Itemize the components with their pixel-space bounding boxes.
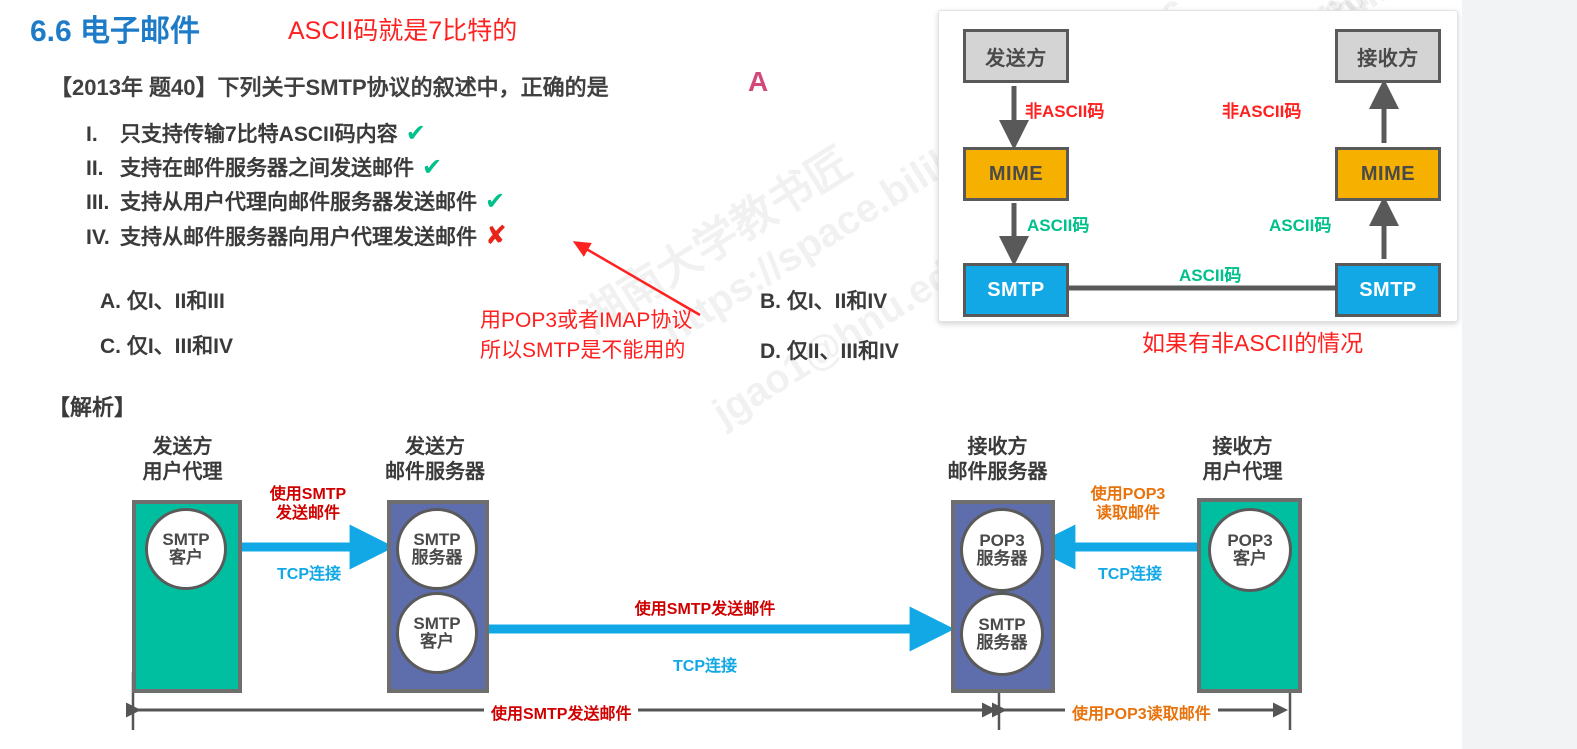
circle-smtp-server-sender: SMTP 服务器 — [396, 508, 478, 590]
link-label-line2: 读取邮件 — [1068, 504, 1188, 523]
statement-text: 支持在邮件服务器之间发送邮件 — [120, 157, 414, 180]
mime-panel-right-mime-box: MIME — [1335, 147, 1441, 201]
link-label-tcp-3: TCP连接 — [1075, 560, 1185, 584]
statement-1: I.只支持传输7比特ASCII码内容✔ — [86, 118, 426, 148]
statement-text: 只支持传输7比特ASCII码内容 — [120, 123, 398, 146]
circle-line2: 客户 — [1233, 550, 1267, 568]
pop3-annotation-line2: 所以SMTP是不能用的 — [480, 336, 692, 366]
option-d[interactable]: D. 仅II、III和IV — [760, 335, 899, 365]
host-label-receiver-ua: 接收方 用户代理 — [1175, 435, 1310, 485]
pop3-annotation-line1: 用POP3或者IMAP协议 — [480, 306, 692, 336]
circle-line1: SMTP — [978, 616, 1025, 634]
statement-text: 支持从用户代理向邮件服务器发送邮件 — [120, 191, 477, 214]
circle-line1: SMTP — [413, 531, 460, 549]
statement-number: II. — [86, 157, 120, 181]
host-label-line1: 发送方 — [365, 435, 505, 460]
circle-line2: 客户 — [420, 633, 454, 651]
link-label-tcp-1: TCP连接 — [262, 560, 356, 584]
circle-line1: SMTP — [162, 531, 209, 549]
check-icon: ✔ — [406, 120, 426, 147]
host-label-line2: 用户代理 — [1175, 460, 1310, 485]
link-label-ua-to-server: 使用SMTP 发送邮件 — [248, 485, 368, 523]
answer-marker: A — [748, 66, 768, 98]
question-text: 【2013年 题40】下列关于SMTP协议的叙述中，正确的是 — [50, 70, 609, 102]
statement-text: 支持从邮件服务器向用户代理发送邮件 — [120, 226, 477, 249]
mime-panel-middle-ascii-label: ASCII码 — [1179, 261, 1241, 286]
mime-panel-right-ascii-label: ASCII码 — [1269, 211, 1331, 236]
circle-line2: 服务器 — [977, 550, 1028, 568]
mime-panel-left-smtp-box: SMTP — [963, 263, 1069, 317]
circle-line1: POP3 — [1227, 532, 1272, 550]
mime-panel-left-mime-box: MIME — [963, 147, 1069, 201]
mime-panel-right-smtp-box: SMTP — [1335, 263, 1441, 317]
statement-4: IV.支持从邮件服务器向用户代理发送邮件✘ — [86, 220, 507, 251]
statement-number: IV. — [86, 226, 120, 250]
mime-panel-sender-box: 发送方 — [963, 29, 1069, 83]
statement-3: III.支持从用户代理向邮件服务器发送邮件✔ — [86, 186, 505, 216]
host-label-receiver-server: 接收方 邮件服务器 — [925, 435, 1070, 485]
analysis-label: 【解析】 — [48, 390, 136, 422]
link-label-receiver-ua-to-server: 使用POP3 读取邮件 — [1068, 485, 1188, 523]
statement-number: I. — [86, 123, 120, 147]
option-a[interactable]: A. 仅I、II和III — [100, 285, 225, 315]
host-label-line1: 接收方 — [925, 435, 1070, 460]
mime-panel: 发送方 MIME SMTP 接收方 MIME SMTP 非ASCII码 ASCI… — [938, 10, 1458, 322]
circle-line2: 服务器 — [977, 634, 1028, 652]
host-label-sender-server: 发送方 邮件服务器 — [365, 435, 505, 485]
mime-panel-left-nonascii-label: 非ASCII码 — [1025, 97, 1104, 122]
link-label-line1: 使用POP3 — [1068, 485, 1188, 504]
circle-line2: 客户 — [169, 549, 203, 567]
mime-panel-caption: 如果有非ASCII的情况 — [1142, 324, 1363, 358]
circle-line1: POP3 — [979, 532, 1024, 550]
circle-pop3-server-receiver: POP3 服务器 — [960, 508, 1044, 592]
statement-number: III. — [86, 191, 120, 215]
slide-canvas: https://space.bilibili.com/360996 jgao1@… — [0, 0, 1462, 749]
host-label-line2: 邮件服务器 — [925, 460, 1070, 485]
check-icon: ✔ — [485, 188, 505, 215]
page-title: 6.6 电子邮件 — [30, 6, 200, 50]
circle-line2: 服务器 — [412, 549, 463, 567]
link-label-line1: 使用SMTP — [248, 485, 368, 504]
host-label-line2: 用户代理 — [115, 460, 250, 485]
circle-smtp-client-sender-server: SMTP 客户 — [396, 592, 478, 674]
statement-2: II.支持在邮件服务器之间发送邮件✔ — [86, 152, 442, 182]
circle-line1: SMTP — [413, 615, 460, 633]
circle-smtp-server-receiver: SMTP 服务器 — [960, 592, 1044, 676]
host-label-sender-ua: 发送方 用户代理 — [115, 435, 250, 485]
mime-panel-receiver-box: 接收方 — [1335, 29, 1441, 83]
option-b[interactable]: B. 仅I、II和IV — [760, 285, 887, 315]
link-label-tcp-2: TCP连接 — [640, 652, 770, 676]
host-label-line1: 接收方 — [1175, 435, 1310, 460]
cross-icon: ✘ — [485, 220, 507, 250]
measure-label-smtp: 使用SMTP发送邮件 — [484, 700, 638, 724]
link-label-line2: 发送邮件 — [248, 504, 368, 523]
link-label-server-to-server: 使用SMTP发送邮件 — [575, 600, 835, 619]
ascii-annotation: ASCII码就是7比特的 — [288, 11, 517, 47]
measure-label-pop3: 使用POP3读取邮件 — [1065, 700, 1218, 724]
pop3-annotation: 用POP3或者IMAP协议 所以SMTP是不能用的 — [480, 306, 692, 366]
mime-panel-right-nonascii-label: 非ASCII码 — [1222, 97, 1301, 122]
host-label-line2: 邮件服务器 — [365, 460, 505, 485]
mime-panel-left-ascii-label: ASCII码 — [1027, 211, 1089, 236]
check-icon: ✔ — [422, 154, 442, 181]
host-label-line1: 发送方 — [115, 435, 250, 460]
circle-smtp-client-sender: SMTP 客户 — [145, 508, 227, 590]
option-c[interactable]: C. 仅I、III和IV — [100, 330, 233, 360]
circle-pop3-client-receiver: POP3 客户 — [1208, 508, 1292, 592]
